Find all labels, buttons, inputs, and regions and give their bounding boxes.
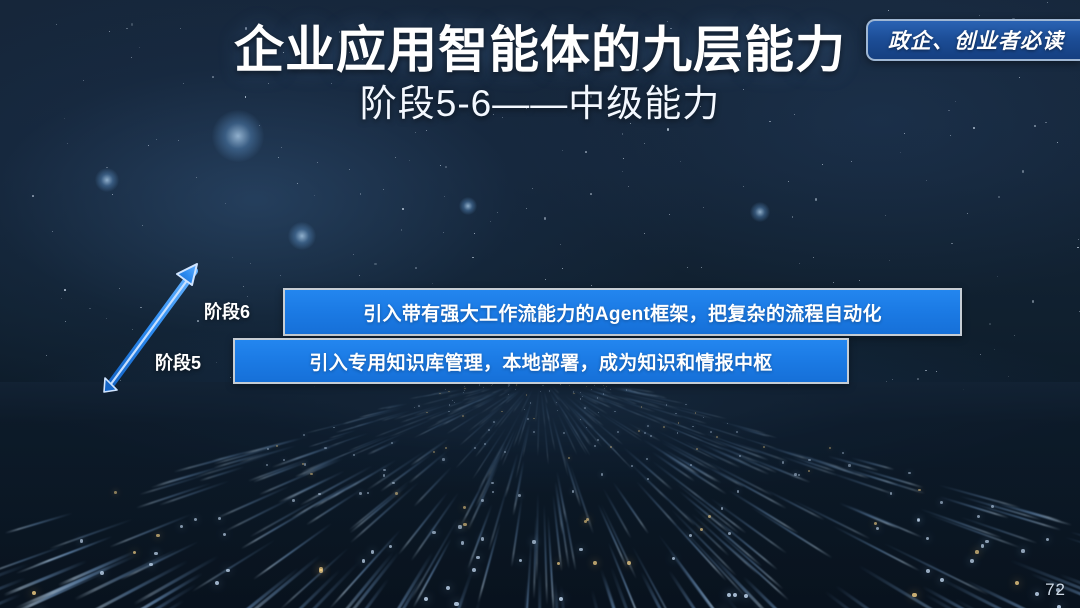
stage-bar-6[interactable]: 引入带有强大工作流能力的Agent框架，把复杂的流程自动化	[283, 288, 962, 336]
corner-badge-label: 政企、创业者必读	[888, 25, 1064, 55]
page-subtitle: 阶段5-6——中级能力	[0, 82, 1080, 126]
stage-bar-5-text: 引入专用知识库管理，本地部署，成为知识和情报中枢	[235, 348, 847, 375]
stage-bar-5[interactable]: 引入专用知识库管理，本地部署，成为知识和情报中枢	[233, 338, 849, 384]
stage-label-6: 阶段6	[204, 298, 250, 324]
stage-bar-6-text: 引入带有强大工作流能力的Agent框架，把复杂的流程自动化	[285, 299, 960, 326]
page-number: 72	[1045, 580, 1066, 600]
slide-canvas: 企业应用智能体的九层能力 阶段5-6——中级能力 政企、创业者必读	[0, 0, 1080, 608]
corner-badge: 政企、创业者必读	[866, 19, 1080, 61]
stage-label-5: 阶段5	[155, 349, 201, 375]
growth-arrow-icon	[95, 252, 225, 397]
